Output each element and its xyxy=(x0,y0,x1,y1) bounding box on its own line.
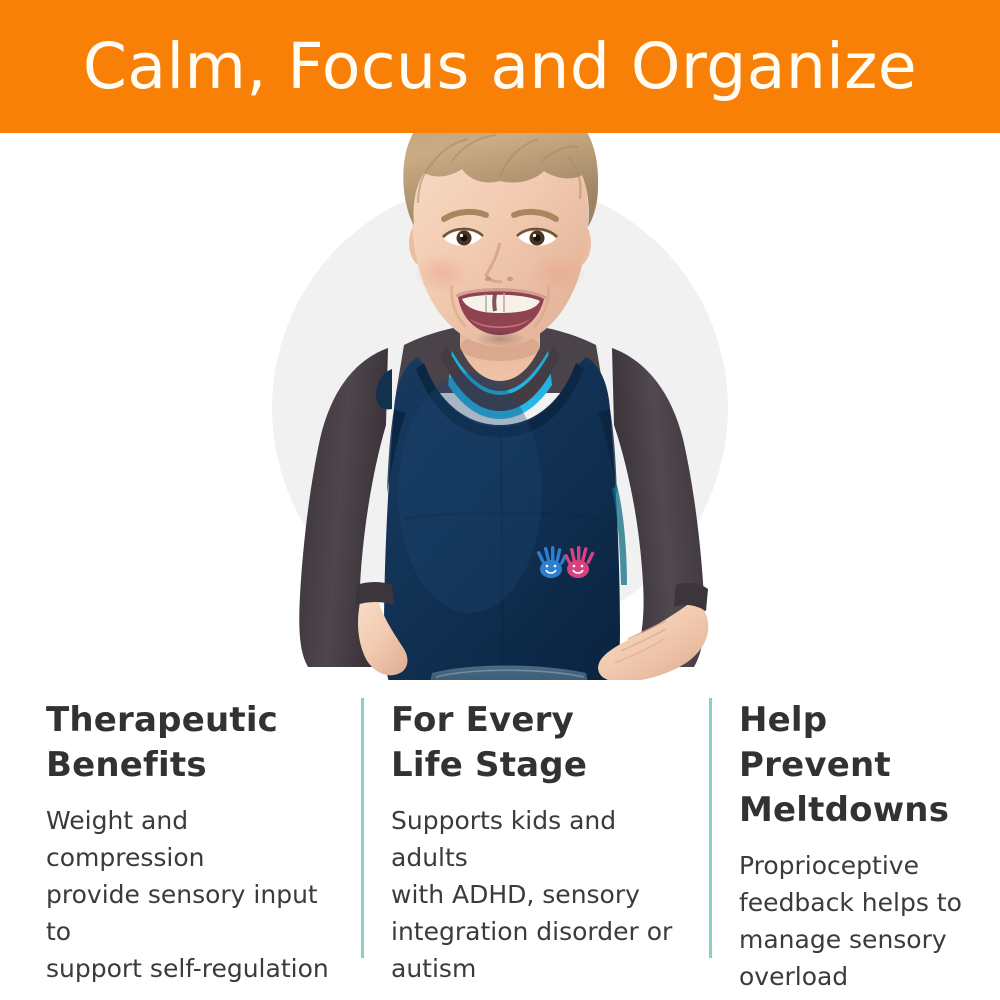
left-cuff xyxy=(356,582,394,605)
feature-column-therapeutic-benefits: Therapeutic Benefits Weight and compress… xyxy=(0,690,353,990)
feature-body: Proprioceptive feedback helps to manage … xyxy=(739,847,978,995)
vest-highlight xyxy=(398,373,542,613)
feature-columns: Therapeutic Benefits Weight and compress… xyxy=(0,690,1000,990)
column-divider xyxy=(709,698,712,958)
feature-body: Supports kids and adults with ADHD, sens… xyxy=(391,802,679,987)
feature-title: Help Prevent Meltdowns xyxy=(739,698,978,833)
missing-tooth-gap xyxy=(494,294,495,311)
banner: Calm, Focus and Organize xyxy=(0,0,1000,133)
feature-column-help-prevent-meltdowns: Help Prevent Meltdowns Proprioceptive fe… xyxy=(701,690,1000,990)
right-nostril xyxy=(507,277,513,281)
column-divider xyxy=(361,698,364,958)
hero-photo-section xyxy=(0,133,1000,680)
left-nostril xyxy=(485,277,491,281)
page-title: Calm, Focus and Organize xyxy=(83,35,917,98)
feature-column-for-every-life-stage: For Every Life Stage Supports kids and a… xyxy=(353,690,701,990)
feature-title: Therapeutic Benefits xyxy=(46,698,331,788)
feature-body: Weight and compression provide sensory i… xyxy=(46,802,331,987)
left-cheek xyxy=(414,253,470,293)
chin-shadow xyxy=(474,330,526,348)
product-photo-boy-wearing-weighted-vest xyxy=(0,133,1000,680)
feature-title: For Every Life Stage xyxy=(391,698,679,788)
right-cheek xyxy=(530,253,586,293)
product-feature-infographic: Calm, Focus and Organize xyxy=(0,0,1000,1000)
